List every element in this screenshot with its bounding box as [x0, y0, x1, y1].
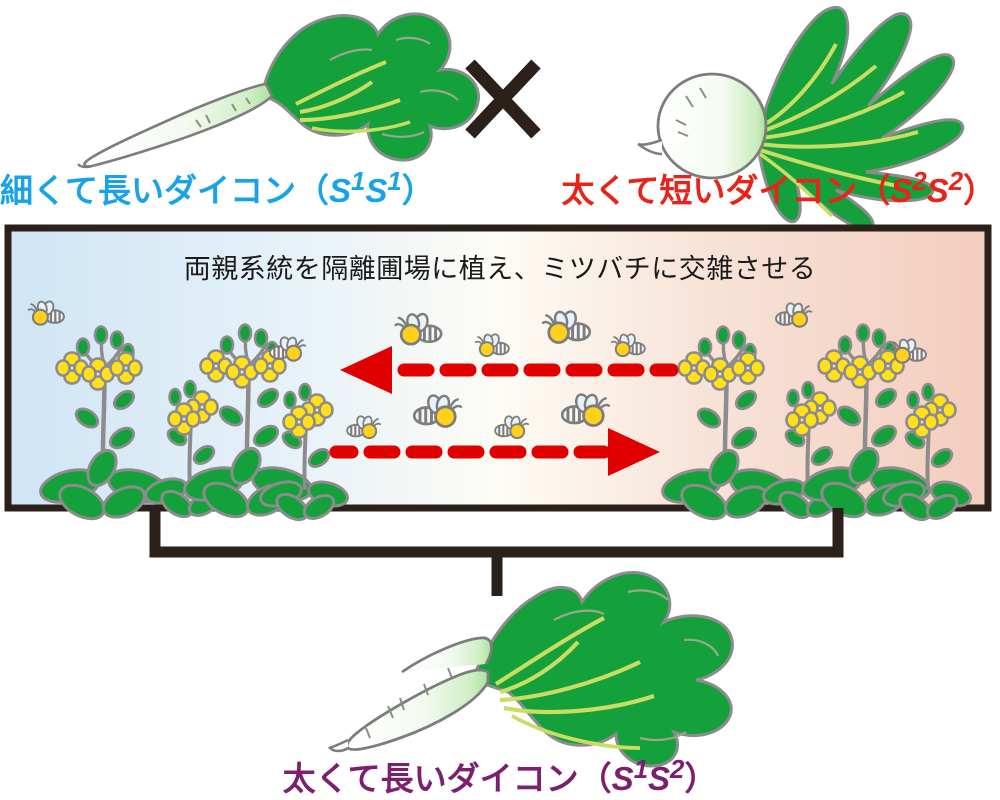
- label-parent-left-gene-2: S: [365, 172, 387, 209]
- label-parent-left: 細くて長いダイコン（S1S1）: [0, 164, 435, 212]
- radish-thick-long-illustration: [330, 572, 732, 766]
- diagram-canvas: 両親系統を隔離圃場に植え、ミツバチに交雑させる 細くて長いダイコン（S1S1） …: [0, 0, 1000, 797]
- label-parent-right-sup-1: 2: [912, 168, 926, 196]
- label-parent-right-paren-close: ）: [963, 172, 996, 209]
- label-parent-left-paren-open: （: [296, 172, 329, 209]
- label-offspring-text: 太くて長いダイコン: [283, 760, 579, 797]
- label-parent-right-sup-2: 2: [949, 168, 963, 196]
- field-caption: 両親系統を隔離圃場に植え、ミツバチに交雑させる: [0, 247, 1000, 286]
- label-parent-right-gene-1: S: [890, 172, 912, 209]
- label-parent-right-text: 太くて短いダイコン: [561, 172, 857, 209]
- label-offspring-sup-1: 1: [634, 756, 648, 784]
- label-parent-right-gene-2: S: [927, 172, 949, 209]
- label-offspring-sup-2: 2: [670, 756, 684, 784]
- label-parent-left-sup-2: 1: [387, 168, 401, 196]
- label-parent-right: 太くて短いダイコン（S2S2）: [561, 164, 996, 212]
- label-parent-right-paren-open: （: [857, 172, 890, 209]
- label-offspring: 太くて長いダイコン（S1S2）: [0, 752, 1000, 800]
- label-parent-left-text: 細くて長いダイコン: [0, 172, 296, 209]
- label-parent-left-paren-close: ）: [402, 172, 435, 209]
- illustration-layer: [0, 0, 1000, 797]
- label-parent-left-gene-1: S: [329, 172, 351, 209]
- radish-thin-long-illustration: [78, 14, 479, 167]
- label-offspring-paren-open: （: [579, 760, 612, 797]
- label-offspring-gene-2: S: [648, 760, 670, 797]
- cross-result-bracket: [155, 508, 838, 596]
- label-offspring-paren-close: ）: [684, 760, 717, 797]
- label-parent-left-sup-1: 1: [351, 168, 365, 196]
- label-offspring-gene-1: S: [612, 760, 634, 797]
